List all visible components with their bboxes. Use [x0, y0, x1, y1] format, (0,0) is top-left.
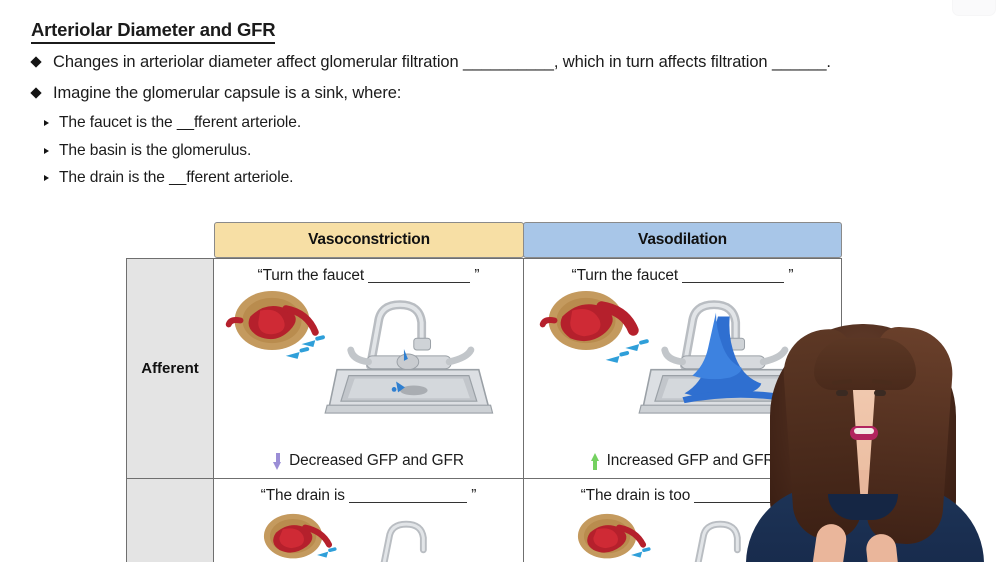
- triangle-bullet-icon: [44, 175, 49, 181]
- table-corner-cell: [126, 222, 214, 258]
- triangle-bullet-icon: [44, 120, 49, 126]
- row-label-afferent: Afferent: [126, 258, 214, 479]
- bullet-item-1: Changes in arteriolar diameter affect gl…: [31, 52, 931, 72]
- top-right-control-pill[interactable]: [952, 0, 996, 16]
- arrow-down-icon: [273, 453, 282, 470]
- bullet-text: Imagine the glomerular capsule is a sink…: [53, 84, 401, 102]
- quote-suffix: ”: [471, 487, 476, 504]
- presenter-video-overlay: [722, 318, 1000, 562]
- cell-quote: “Turn the faucet ”: [572, 267, 794, 285]
- bullet-text: The faucet is the __fferent arteriole.: [59, 114, 301, 131]
- quote-prefix: “The drain is: [261, 487, 345, 504]
- illustration-glomerulus-sink-low-flow: [214, 287, 523, 415]
- quote-prefix: “The drain is too: [581, 487, 691, 504]
- bullet-item-5: The drain is the __fferent arteriole.: [31, 168, 931, 187]
- cell-efferent-vasoconstriction: “The drain is ”: [213, 478, 524, 562]
- cell-quote: “The drain is ”: [261, 487, 477, 505]
- bullet-text: The basin is the glomerulus.: [59, 142, 251, 159]
- status-text: Decreased GFP and GFR: [289, 452, 464, 470]
- triangle-bullet-icon: [44, 148, 49, 154]
- presenter-teeth: [854, 428, 874, 434]
- illustration-glomerulus-sink-drain-restricted: [214, 507, 523, 562]
- slide-canvas: Arteriolar Diameter and GFR Changes in a…: [0, 0, 1000, 562]
- row-label-efferent: [126, 478, 214, 562]
- presenter-eye-right: [874, 390, 886, 396]
- presenter-eye-left: [836, 390, 848, 396]
- fill-in-blank[interactable]: [349, 489, 467, 503]
- status-decreased: Decreased GFP and GFR: [273, 452, 464, 470]
- bullet-item-3: The faucet is the __fferent arteriole.: [31, 113, 931, 132]
- bullet-text: Changes in arteriolar diameter affect gl…: [53, 53, 831, 71]
- bullet-list: Changes in arteriolar diameter affect gl…: [31, 52, 931, 196]
- bullet-item-2: Imagine the glomerular capsule is a sink…: [31, 83, 931, 103]
- diamond-bullet-icon: [30, 87, 41, 98]
- bullet-text: The drain is the __fferent arteriole.: [59, 169, 293, 186]
- diamond-bullet-icon: [30, 56, 41, 67]
- column-header-vasodilation: Vasodilation: [523, 222, 842, 258]
- page-title: Arteriolar Diameter and GFR: [31, 20, 275, 44]
- quote-prefix: “Turn the faucet: [258, 267, 364, 284]
- quote-suffix: ”: [474, 267, 479, 284]
- quote-prefix: “Turn the faucet: [572, 267, 678, 284]
- presenter-hair-top: [814, 338, 916, 390]
- quote-suffix: ”: [788, 267, 793, 284]
- fill-in-blank[interactable]: [368, 269, 470, 283]
- arrow-up-icon: [591, 453, 600, 470]
- cell-quote: “Turn the faucet ”: [258, 267, 480, 285]
- fill-in-blank[interactable]: [682, 269, 784, 283]
- column-header-vasoconstriction: Vasoconstriction: [214, 222, 524, 258]
- cell-afferent-vasoconstriction: “Turn the faucet ”: [213, 258, 524, 479]
- bullet-item-4: The basin is the glomerulus.: [31, 141, 931, 160]
